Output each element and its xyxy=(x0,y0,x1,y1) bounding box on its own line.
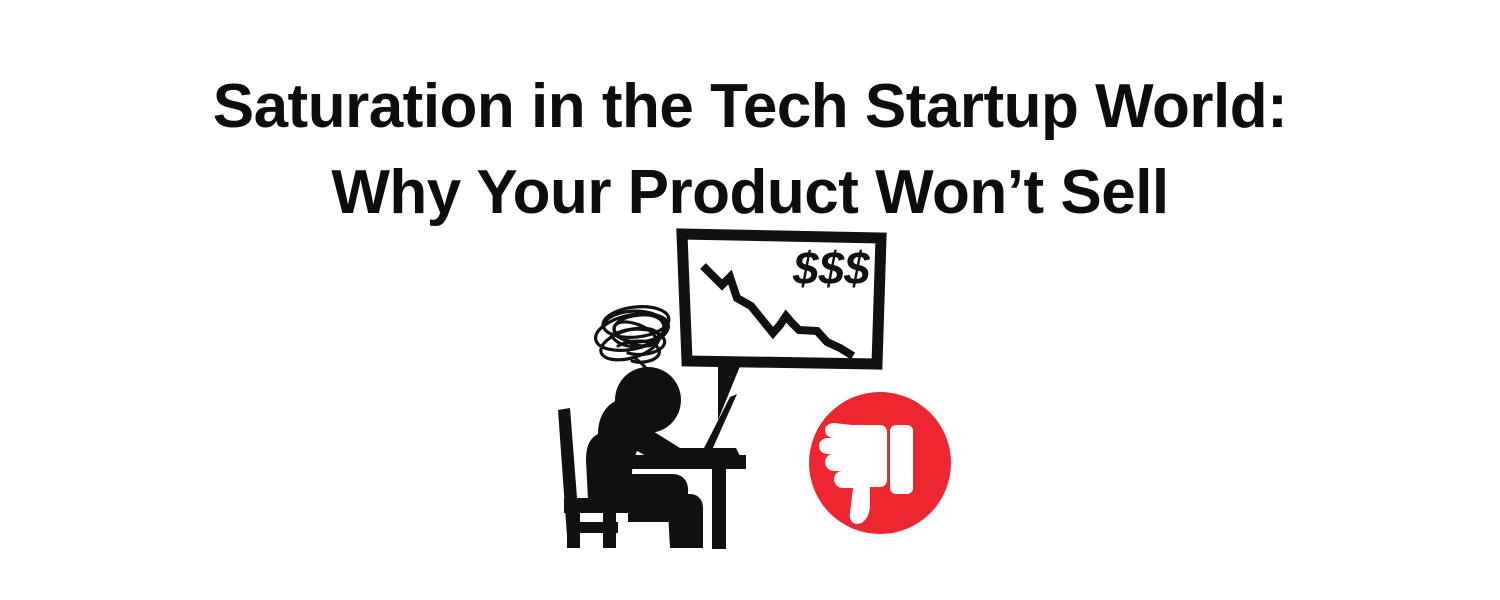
page-title: Saturation in the Tech Startup World: Wh… xyxy=(0,64,1500,236)
page-root: Saturation in the Tech Startup World: Wh… xyxy=(0,0,1500,600)
laptop xyxy=(672,394,742,460)
money-label: $$$ xyxy=(792,242,870,294)
laptop-base xyxy=(672,448,742,460)
page-title-line-1: Saturation in the Tech Startup World: xyxy=(0,64,1500,150)
speech-bubble: $$$ xyxy=(682,234,881,420)
thumbs-down-badge[interactable] xyxy=(809,392,951,534)
hero-illustration: $$$ xyxy=(540,222,1000,567)
desk-leg xyxy=(712,465,726,549)
